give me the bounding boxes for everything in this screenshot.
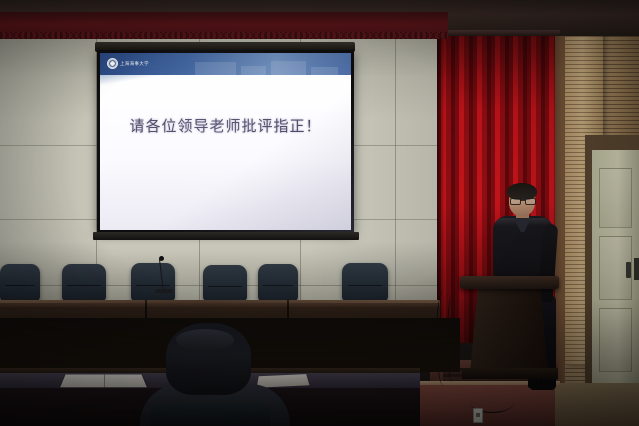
conference-chair	[131, 263, 175, 301]
slide-body: 请各位领导老师批评指正！	[100, 75, 351, 230]
projection-screen: 上海海事大学 请各位领导老师批评指正！	[97, 50, 354, 233]
conference-chair	[0, 264, 40, 301]
presenter-shoes	[530, 382, 555, 390]
open-notebook	[60, 375, 147, 388]
gooseneck-microphone-head	[159, 256, 164, 261]
exit-door[interactable]	[592, 150, 639, 388]
audience-chair-back	[150, 404, 270, 426]
door-lock-plate	[634, 258, 639, 280]
lectern-body	[470, 288, 548, 373]
door-panel	[599, 308, 632, 372]
presenter-glasses	[510, 198, 534, 203]
lectern-top	[460, 276, 559, 289]
conference-chair	[203, 265, 247, 301]
lecture-hall-photo: 上海海事大学 请各位领导老师批评指正！	[0, 0, 639, 426]
university-logo-text: 上海海事大学	[120, 61, 149, 67]
head-table-sheen	[0, 300, 440, 303]
university-emblem-icon	[107, 58, 118, 69]
conference-chair	[342, 263, 388, 301]
conference-chair	[258, 264, 298, 301]
projected-slide: 上海海事大学 请各位领导老师批评指正！	[100, 53, 351, 230]
slide-header-banner: 上海海事大学	[100, 53, 351, 75]
door-panel	[599, 168, 632, 228]
gooseneck-microphone-base	[155, 289, 172, 293]
screen-bottom-bar	[93, 232, 359, 240]
lectern-base	[462, 368, 558, 379]
valance-fringe	[0, 33, 448, 38]
university-logo: 上海海事大学	[107, 58, 149, 69]
conference-chair	[62, 264, 106, 301]
door-handle[interactable]	[626, 262, 631, 278]
slide-title-text: 请各位领导老师批评指正！	[100, 115, 351, 136]
floor-right	[552, 383, 639, 426]
audience-member-hair-sheen	[176, 329, 234, 351]
floor-power-outlet[interactable]	[473, 408, 483, 423]
